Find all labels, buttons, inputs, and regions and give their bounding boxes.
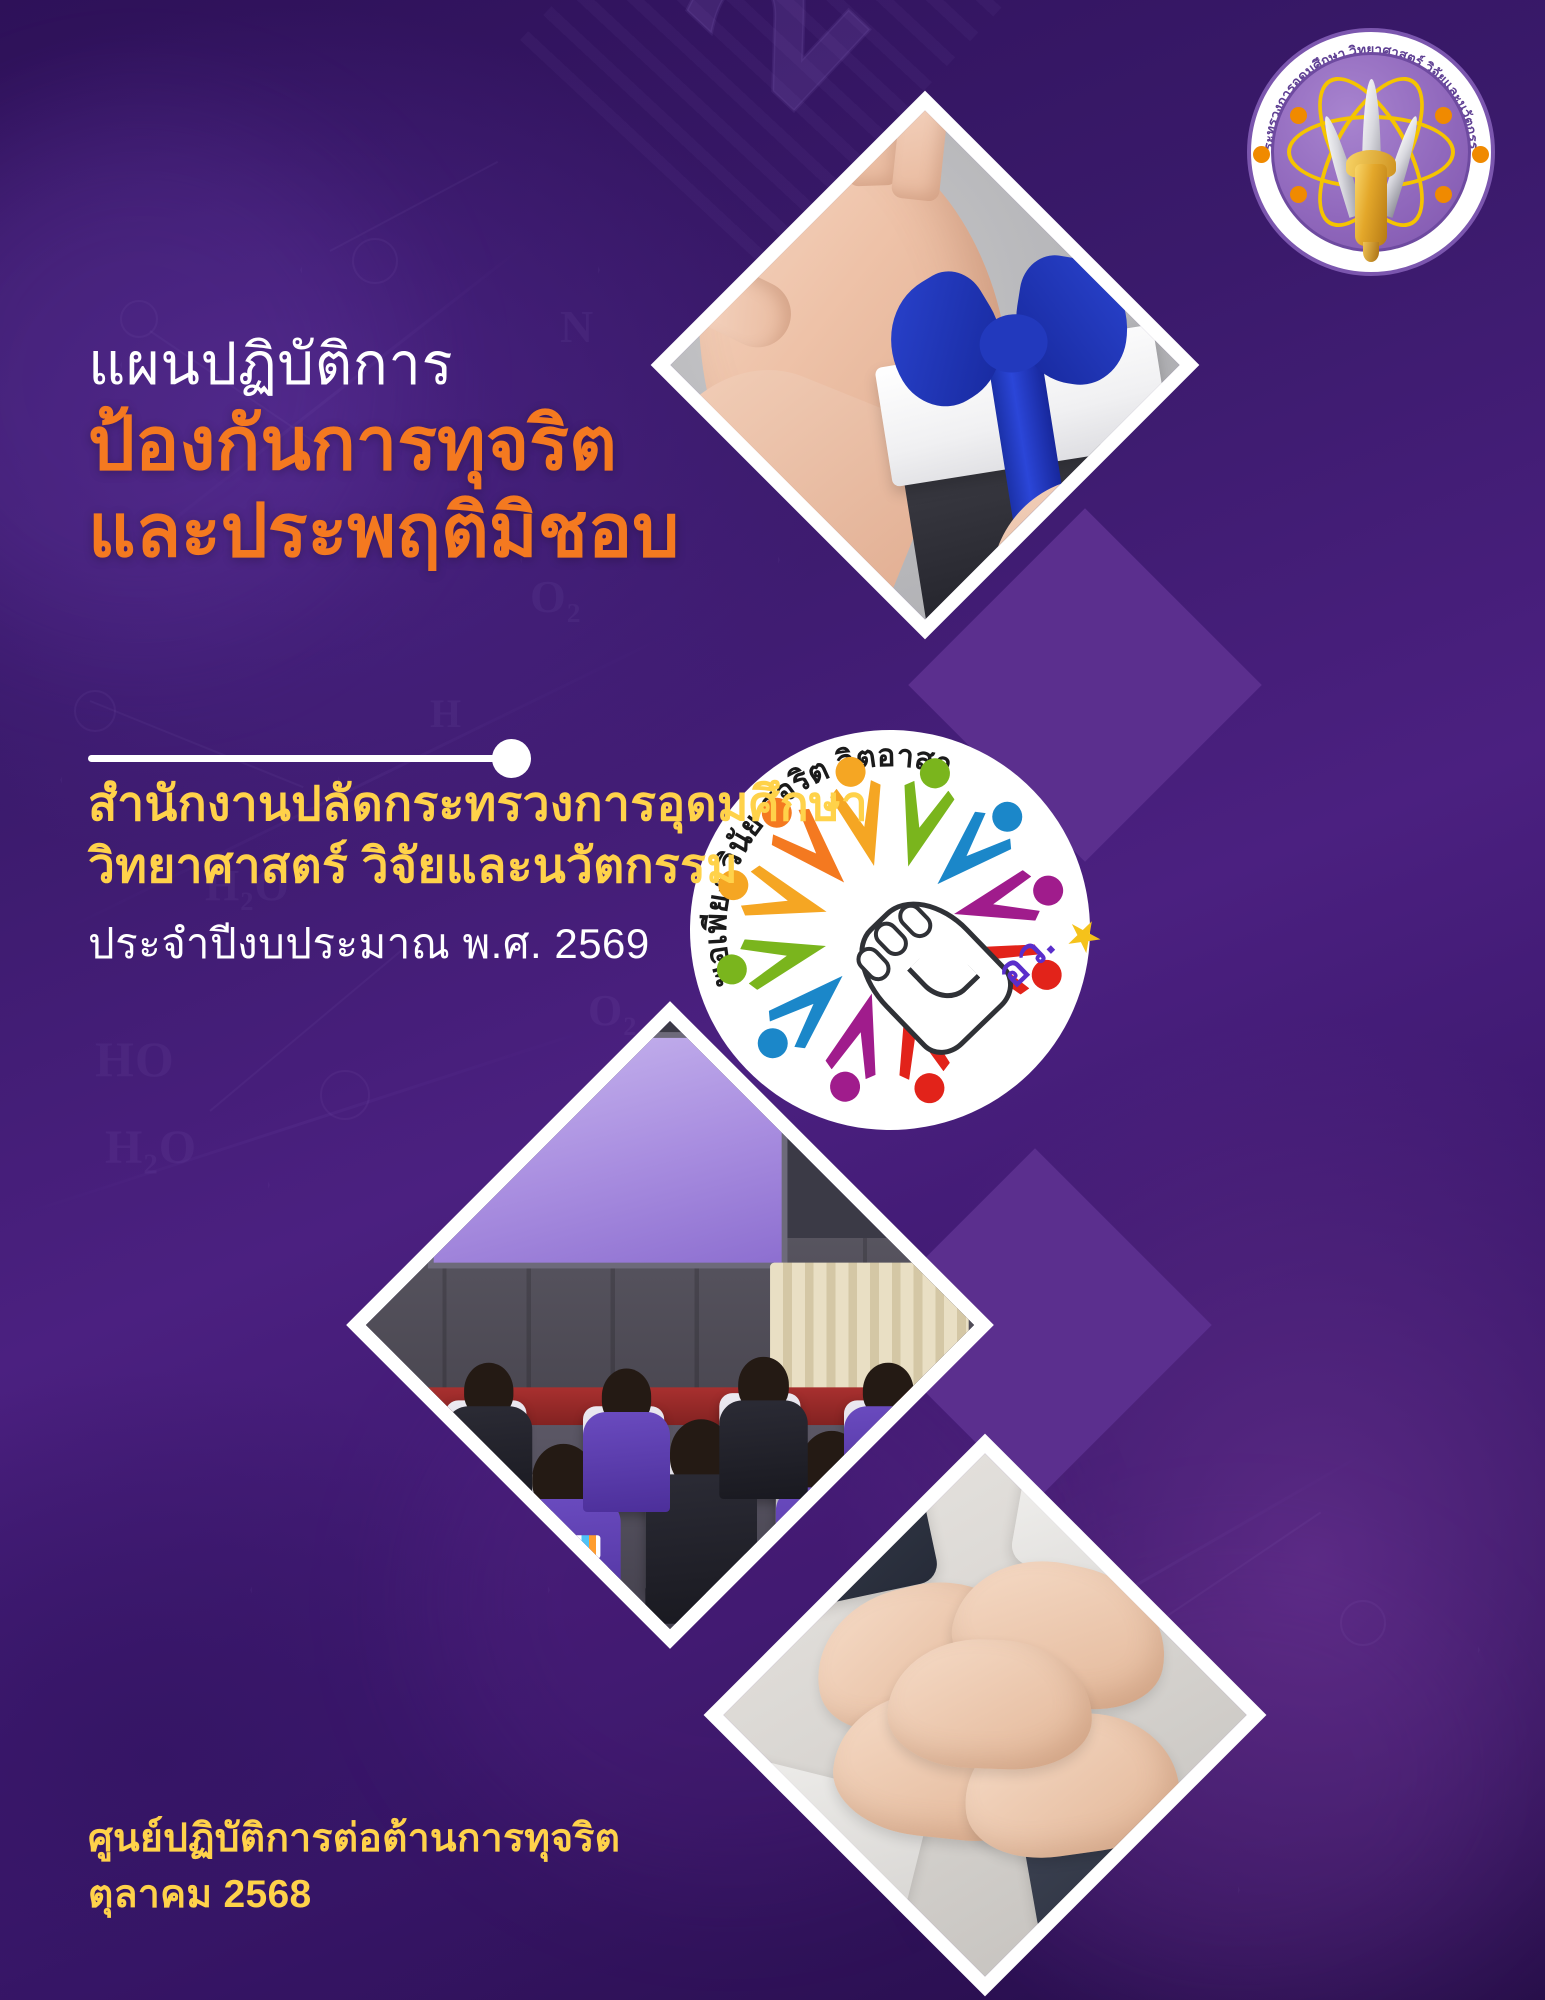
title-and-misconduct: และประพฤติมิชอบ	[88, 487, 948, 574]
photo-hands-teamwork	[723, 1453, 1246, 1976]
orbit-dot	[1435, 186, 1452, 203]
footer-block: ศูนย์ปฏิบัติการต่อต้านการทุจริต ตุลาคม 2…	[88, 1811, 620, 1922]
fiscal-year: ประจำปีงบประมาณ พ.ศ. 2569	[88, 911, 948, 977]
organization-line-2: วิทยาศาสตร์ วิจัยและนวัตกรรม	[88, 836, 948, 897]
footer-office-name: ศูนย์ปฏิบัติการต่อต้านการทุจริต	[88, 1811, 620, 1866]
organization-line-1: สำนักงานปลัดกระทรวงการอุดมศึกษา	[88, 774, 948, 835]
orbit-dot	[1290, 107, 1307, 124]
trident-handle	[1355, 164, 1387, 246]
logo-inner-disc	[1271, 52, 1471, 252]
plan-label: แผนปฏิบัติการ	[88, 330, 948, 400]
orbit-dot	[1435, 107, 1452, 124]
document-cover: O2 H2O HO H2O O2 N H 2026	[0, 0, 1545, 2000]
divider-line	[88, 755, 518, 762]
title-block: แผนปฏิบัติการ ป้องกันการทุจริต และประพฤต…	[88, 330, 948, 977]
footer-date: ตุลาคม 2568	[88, 1867, 620, 1922]
title-prevent-corruption: ป้องกันการทุจริต	[88, 400, 948, 487]
ministry-logo: กระทรวงการอุดมศึกษา วิทยาศาสตร์ วิจัยและ…	[1247, 28, 1495, 276]
orbit-dot	[1290, 186, 1307, 203]
divider-dot	[492, 739, 531, 778]
